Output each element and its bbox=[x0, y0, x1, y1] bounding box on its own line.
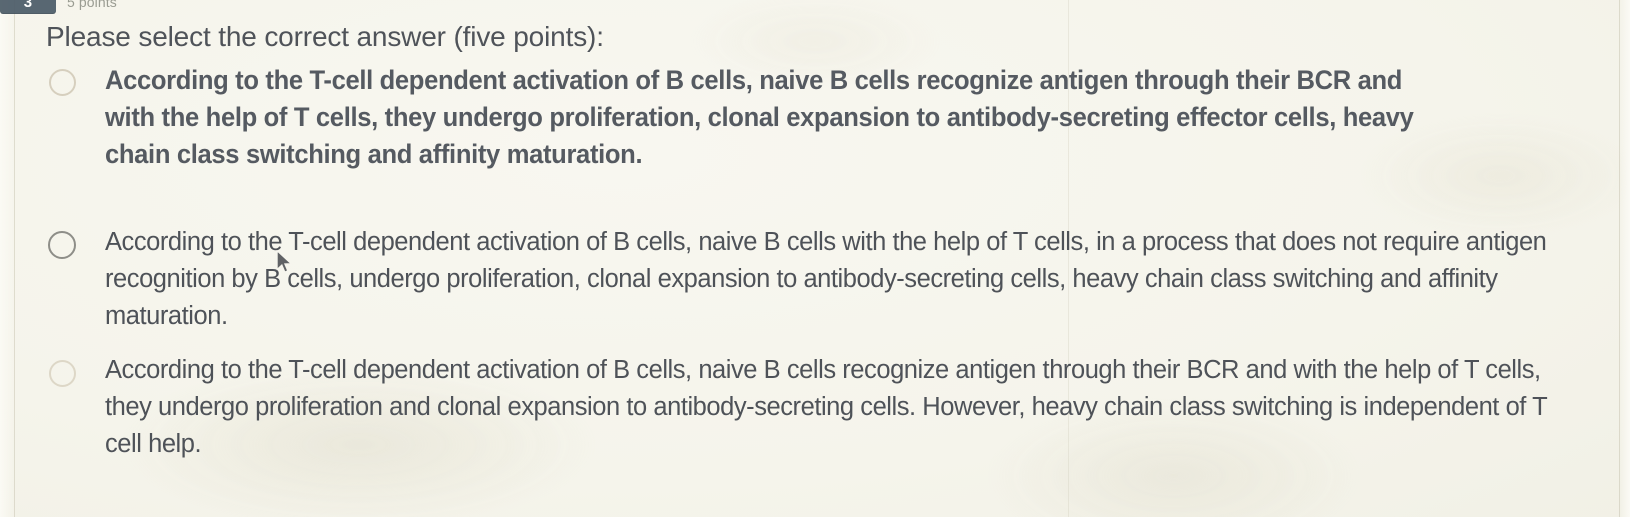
answer-option-3[interactable]: According to the T-cell dependent activa… bbox=[44, 352, 1575, 463]
answer-option-1[interactable]: According to the T-cell dependent activa… bbox=[46, 62, 1505, 173]
page-left-edge-line bbox=[14, 0, 15, 517]
page-left-edge-highlight bbox=[0, 0, 14, 517]
quiz-question-page: 3 5 points Please select the correct ans… bbox=[0, 0, 1630, 517]
radio-button-option-2[interactable] bbox=[48, 231, 76, 259]
question-header: 3 5 points bbox=[0, 0, 117, 15]
page-right-edge-highlight bbox=[1620, 0, 1630, 517]
answer-option-2[interactable]: According to the T-cell dependent activa… bbox=[44, 224, 1565, 335]
answer-option-1-label: According to the T-cell dependent activa… bbox=[105, 62, 1456, 173]
answer-option-2-label: According to the T-cell dependent activa… bbox=[105, 224, 1565, 335]
radio-button-option-1[interactable] bbox=[49, 69, 76, 96]
question-points-label: 5 points bbox=[67, 0, 117, 10]
question-prompt: Please select the correct answer (five p… bbox=[46, 22, 604, 51]
answer-option-3-label: According to the T-cell dependent activa… bbox=[105, 352, 1575, 463]
radio-button-option-3[interactable] bbox=[49, 360, 76, 387]
page-right-edge-line bbox=[1619, 0, 1620, 517]
question-number-badge: 3 bbox=[0, 0, 56, 14]
